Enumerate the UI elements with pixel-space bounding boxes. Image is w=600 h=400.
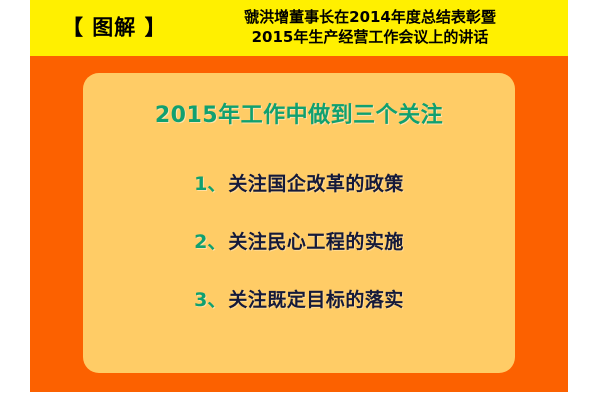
list-item: 1、 关注国企改革的政策: [83, 169, 515, 227]
list-item-index: 1、: [194, 169, 226, 196]
header-title: 虢洪增董事长在2014年度总结表彰暨 2015年生产经营工作会议上的讲话: [195, 8, 545, 48]
header-title-line-2: 2015年生产经营工作会议上的讲话: [195, 28, 545, 48]
list-item-label: 关注国企改革的政策: [228, 169, 404, 196]
infographic-slide: 【 图解 】 虢洪增董事长在2014年度总结表彰暨 2015年生产经营工作会议上…: [0, 0, 600, 400]
header-title-line-1: 虢洪增董事长在2014年度总结表彰暨: [195, 8, 545, 28]
list-item-index: 2、: [194, 227, 226, 254]
list-item: 2、 关注民心工程的实施: [83, 227, 515, 285]
content-panel: 2015年工作中做到三个关注 1、 关注国企改革的政策 2、 关注民心工程的实施…: [83, 73, 515, 373]
list-item-label: 关注民心工程的实施: [228, 227, 404, 254]
list-item: 3、 关注既定目标的落实: [83, 285, 515, 343]
list-item-label: 关注既定目标的落实: [228, 285, 404, 312]
orange-frame: 2015年工作中做到三个关注 1、 关注国企改革的政策 2、 关注民心工程的实施…: [30, 56, 568, 392]
list-item-index: 3、: [194, 285, 226, 312]
header-badge: 【 图解 】: [62, 18, 167, 39]
panel-heading: 2015年工作中做到三个关注: [83, 97, 515, 129]
key-points-list: 1、 关注国企改革的政策 2、 关注民心工程的实施 3、 关注既定目标的落实: [83, 169, 515, 343]
header-band: 【 图解 】 虢洪增董事长在2014年度总结表彰暨 2015年生产经营工作会议上…: [30, 0, 568, 56]
